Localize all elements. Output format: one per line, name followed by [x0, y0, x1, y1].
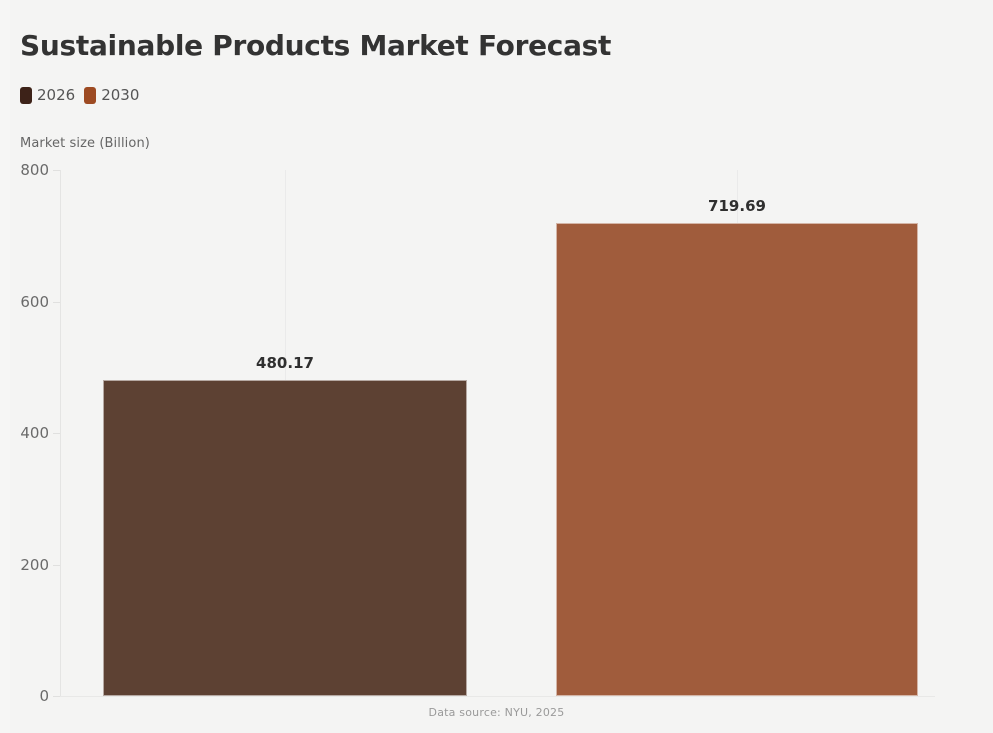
y-tick-mark — [53, 565, 60, 566]
chart-title: Sustainable Products Market Forecast — [20, 29, 611, 62]
y-axis-title: Market size (Billion) — [20, 136, 150, 151]
y-tick-mark — [53, 696, 60, 697]
y-tick-mark — [53, 170, 60, 171]
legend-item-2026[interactable]: 2026 — [20, 87, 75, 104]
y-tick-label: 0 — [39, 687, 49, 705]
legend-item-2030[interactable]: 2030 — [84, 87, 139, 104]
y-tick-label: 400 — [20, 424, 49, 442]
bar-value-label-2030: 719.69 — [708, 197, 766, 215]
y-tick-label: 600 — [20, 293, 49, 311]
y-axis-line — [60, 170, 61, 696]
y-tick-mark — [53, 302, 60, 303]
y-tick-label: 200 — [20, 556, 49, 574]
legend-swatch-2030 — [84, 87, 96, 104]
legend-label-2030: 2030 — [101, 88, 139, 103]
legend-swatch-2026 — [20, 87, 32, 104]
bar-2026[interactable] — [103, 380, 467, 696]
y-tick-label: 800 — [20, 161, 49, 179]
x-axis-line — [60, 696, 935, 697]
canvas-left-gutter — [0, 0, 10, 733]
y-tick-mark — [53, 433, 60, 434]
bar-value-label-2026: 480.17 — [256, 354, 314, 372]
bar-2030[interactable] — [556, 223, 918, 696]
chart-legend: 2026 2030 — [20, 85, 139, 105]
plot-area: 0200400600800 480.17719.69 — [60, 170, 930, 696]
chart-container: Sustainable Products Market Forecast 202… — [0, 0, 993, 733]
data-source-note: Data source: NYU, 2025 — [0, 706, 993, 719]
legend-label-2026: 2026 — [37, 88, 75, 103]
